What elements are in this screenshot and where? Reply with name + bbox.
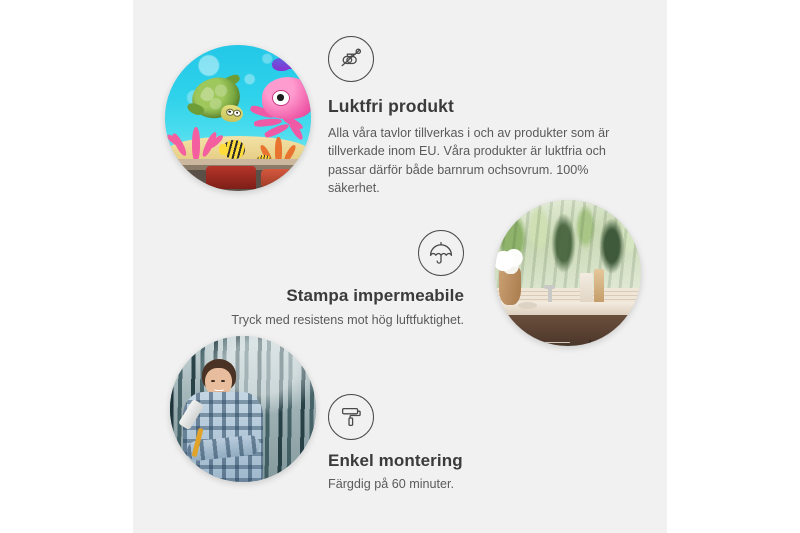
feature-block-waterproof: Stampa impermeabile Tryck med resistens …: [196, 230, 464, 330]
paint-roller-icon: [328, 394, 374, 440]
blue-fish: [272, 58, 291, 71]
room-interior-strip: [165, 159, 311, 191]
cabinet-handle-door: [603, 341, 606, 345]
toiletry-bottle-amber: [594, 269, 604, 306]
feature-title: Stampa impermeabile: [196, 286, 464, 306]
toiletry-bottle-white: [580, 273, 593, 305]
screenshot-root: Luktfri produkt Alla våra tavlor tillver…: [0, 0, 800, 533]
feature-block-easy-install: Enkel montering Färgdig på 60 minuter.: [328, 394, 584, 494]
cabinet-seam: [589, 340, 591, 346]
feature-body: Alla våra tavlor tillverkas i och av pro…: [328, 124, 624, 198]
cabinet-handle-drawer: [539, 342, 569, 343]
underwater-scene: [165, 45, 311, 191]
turtle-eye-right: [233, 109, 242, 117]
feature-image-underwater-mural: [165, 45, 311, 191]
feature-title: Luktfri produkt: [328, 96, 624, 117]
vanity-countertop: [495, 302, 641, 315]
feature-image-installer-forest: [170, 336, 316, 482]
feature-body: Tryck med resistens mot hög luftfuktighe…: [196, 311, 464, 329]
no-fragrance-spray-bottle-icon: [328, 36, 374, 82]
feature-title: Enkel montering: [328, 451, 584, 471]
forest-scene: [170, 336, 316, 482]
wood-vanity-cabinet: [504, 315, 641, 346]
woman-eye-right: [221, 380, 225, 382]
umbrella-icon: [418, 230, 464, 276]
octopus-head: [262, 77, 311, 119]
woman-eye-left: [211, 380, 215, 382]
pink-coral: [171, 118, 224, 162]
octopus-eye: [272, 90, 290, 106]
yellow-striped-fish: [223, 140, 245, 159]
feature-image-bathroom-wallpaper: [495, 200, 641, 346]
feature-body: Färgdig på 60 minuter.: [328, 475, 584, 493]
feature-block-odourless: Luktfri produkt Alla våra tavlor tillver…: [328, 36, 624, 198]
white-flowers: [495, 248, 526, 274]
woman-installer: [182, 359, 267, 482]
turtle-head: [220, 103, 244, 123]
bathroom-scene: [495, 200, 641, 346]
